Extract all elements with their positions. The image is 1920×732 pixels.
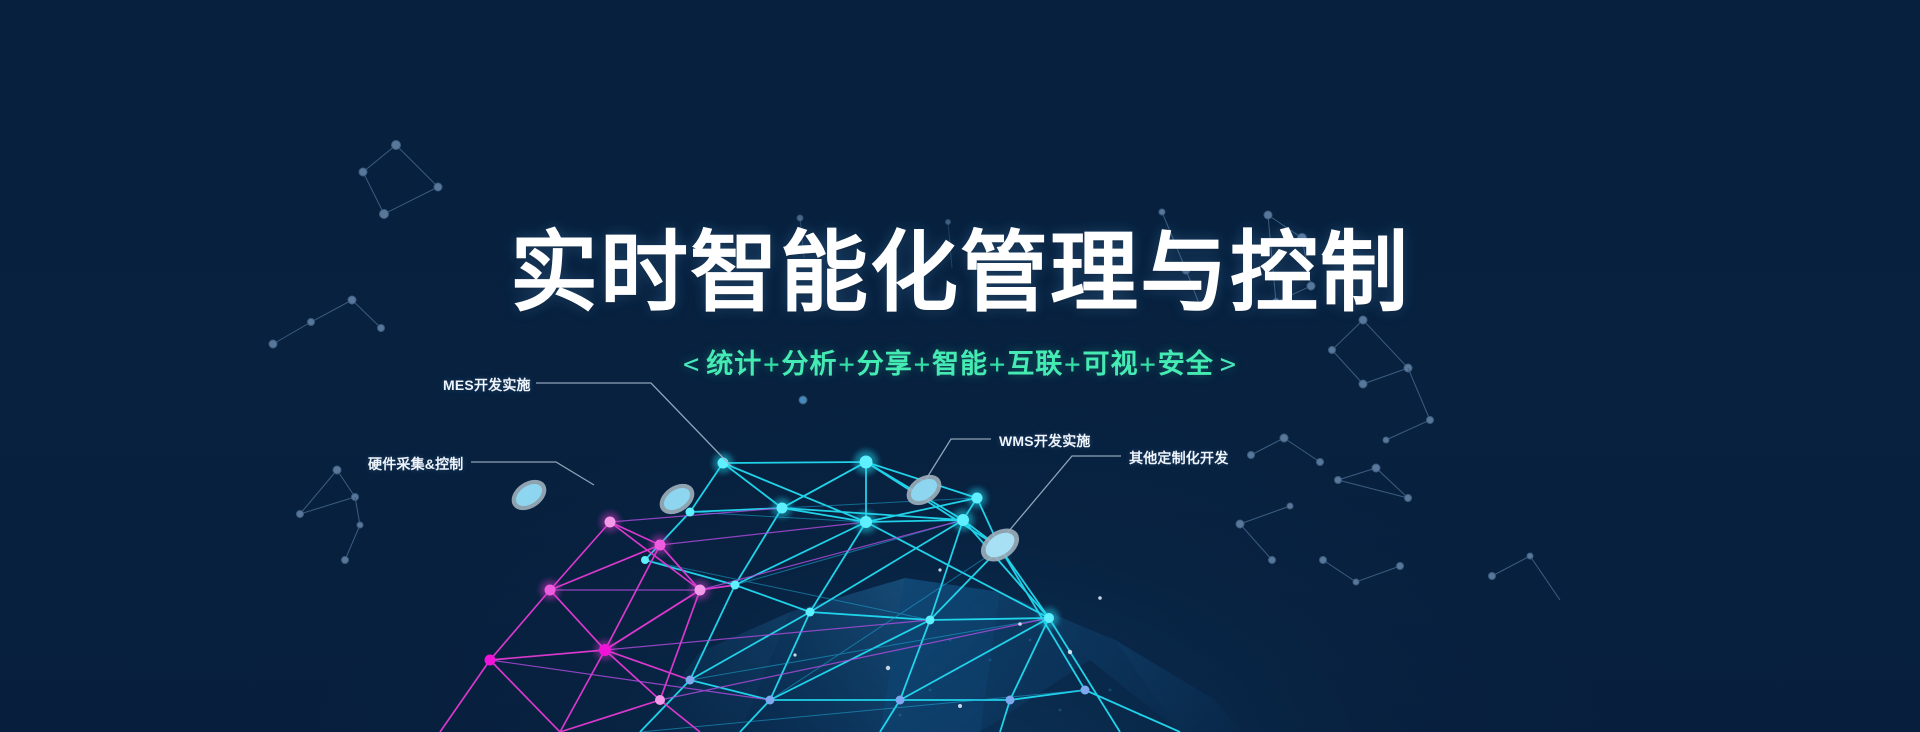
subtitle-word-3: 智能: [932, 349, 988, 380]
subtitle-close-bracket: >: [1214, 349, 1243, 380]
hero-banner: 实时智能化管理与控制 <统计+分析+分享+智能+互联+可视+安全> MES开发实…: [0, 0, 1920, 732]
subtitle-word-6: 安全: [1158, 349, 1214, 380]
subtitle-separator: +: [1139, 349, 1158, 380]
callout-label-other: 其他定制化开发: [1129, 448, 1228, 468]
subtitle-separator: +: [913, 349, 932, 380]
subtitle-word-1: 分析: [781, 349, 837, 380]
subtitle-word-5: 可视: [1083, 349, 1139, 380]
subtitle-separator: +: [1063, 349, 1082, 380]
subtitle-word-4: 互联: [1007, 349, 1063, 380]
subtitle-separator: +: [762, 349, 781, 380]
page-title: 实时智能化管理与控制: [0, 228, 1920, 316]
subtitle-word-0: 统计: [706, 349, 762, 380]
subtitle-open-bracket: <: [677, 349, 706, 380]
subtitle-separator: +: [988, 349, 1007, 380]
callout-label-hardware: 硬件采集&控制: [368, 454, 464, 474]
callout-label-wms: WMS开发实施: [999, 431, 1091, 451]
subtitle-keyword-strip: <统计+分析+分享+智能+互联+可视+安全>: [0, 342, 1920, 381]
subtitle-word-2: 分享: [857, 349, 913, 380]
subtitle-separator: +: [837, 349, 856, 380]
callout-label-mes: MES开发实施: [443, 375, 531, 395]
